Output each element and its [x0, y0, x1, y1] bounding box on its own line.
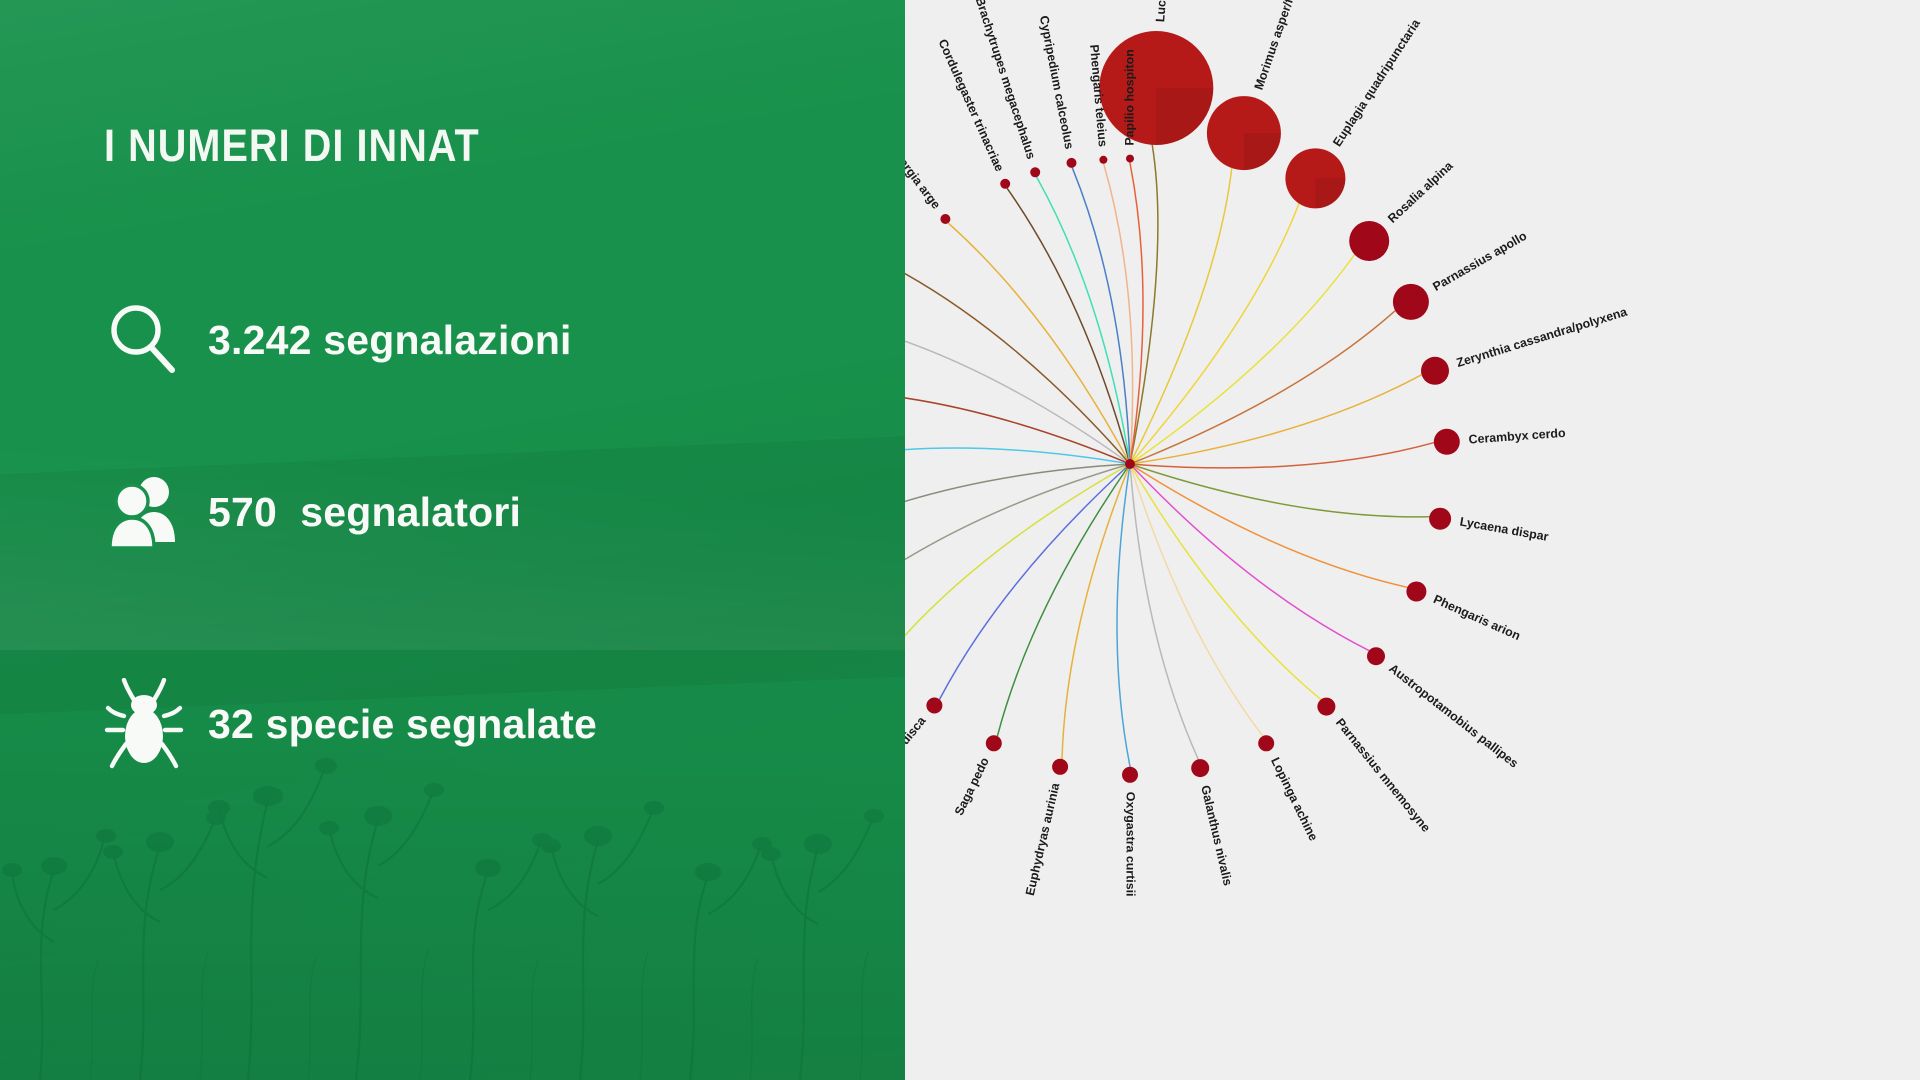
chart-node[interactable] [940, 214, 950, 224]
chart-center-hub[interactable] [1125, 459, 1135, 469]
chart-node[interactable] [1317, 698, 1335, 716]
stat-row-segnalatori: 570 segnalatori [104, 472, 521, 552]
stat-row-specie: 32 specie segnalate [104, 678, 597, 770]
chart-node[interactable] [1258, 735, 1274, 751]
chart-edge [905, 327, 1130, 464]
chart-node-label: Rosalia alpina [1385, 159, 1456, 226]
chart-node-shade [1156, 88, 1213, 145]
chart-node[interactable] [1122, 767, 1138, 783]
search-icon [104, 300, 208, 380]
stats-panel: I NUMERI DI INNAT 3.242 segnalazioni [0, 0, 905, 1080]
chart-node-label: Phengaris arion [1431, 592, 1522, 643]
chart-node-label: Cerambyx cerdo [1468, 426, 1566, 447]
chart-node[interactable] [1367, 647, 1385, 665]
chart-node-label: Euplagia quadripunctaria [1330, 17, 1423, 149]
chart-node-label: Parnassius apollo [1430, 228, 1529, 293]
chart-node[interactable] [1429, 508, 1451, 530]
chart-edge [1037, 178, 1130, 465]
chart-node-label: Lopinga achine [1268, 755, 1320, 843]
chart-edge [905, 270, 1130, 464]
beetle-icon [104, 678, 208, 770]
chart-edge [1130, 169, 1232, 464]
chart-edge [1130, 464, 1407, 587]
chart-node[interactable] [1099, 156, 1107, 164]
chart-node[interactable] [1406, 582, 1426, 602]
page-title: I NUMERI DI INNAT [104, 120, 480, 172]
chart-node[interactable] [1393, 284, 1429, 320]
chart-node-label: Austropotamobius pallipes [1386, 661, 1521, 770]
chart-node[interactable] [986, 735, 1002, 751]
chart-node-label: Lycaena dispar [1459, 514, 1550, 543]
chart-node-label: Papilio hospiton [1122, 49, 1136, 145]
chart-edge [1130, 311, 1395, 464]
chart-edge [1104, 164, 1133, 464]
chart-node[interactable] [1349, 221, 1389, 261]
chart-edge [1130, 443, 1433, 468]
chart-node[interactable] [926, 698, 942, 714]
chart-node[interactable] [1052, 759, 1068, 775]
stat-row-segnalazioni: 3.242 segnalazioni [104, 300, 572, 380]
chart-node[interactable] [1000, 179, 1010, 189]
chart-node-label: Saga pedo [952, 755, 992, 818]
chart-node-label: Zerynthia cassandra/polyxena [1455, 305, 1629, 370]
chart-edge [1130, 464, 1321, 699]
chart-node-label: Oxygastra curtisii [1124, 792, 1138, 897]
chart-node-label: Euphydryas aurinia [1023, 782, 1063, 897]
chart-node[interactable] [1421, 357, 1449, 385]
stat-label-segnalatori: 570 segnalatori [208, 489, 521, 536]
chart-node-label: Sympecma paedisca [905, 714, 929, 818]
chart-node-shade [1244, 133, 1281, 170]
chart-node[interactable] [1191, 759, 1209, 777]
chart-node-label: Melanargia arge [905, 128, 943, 212]
chart-edge [1130, 255, 1354, 464]
chart-node[interactable] [1434, 429, 1460, 455]
people-icon [104, 472, 208, 552]
stat-label-segnalazioni: 3.242 segnalazioni [208, 317, 572, 364]
chart-node[interactable] [1067, 158, 1077, 168]
chart-node-label: Morimus asper/funereus [1252, 0, 1312, 92]
infographic-slide: I NUMERI DI INNAT 3.242 segnalazioni [0, 0, 1920, 1080]
chart-edge [1130, 464, 1369, 650]
chart-edge [1130, 464, 1263, 736]
chart-node-shade [1315, 178, 1345, 208]
chart-edge [1130, 204, 1299, 464]
chart-edge [1062, 464, 1130, 759]
chart-node-label: Lucanus cervus [1153, 0, 1174, 23]
chart-node[interactable] [1030, 167, 1040, 177]
stat-label-specie: 32 specie segnalate [208, 701, 597, 748]
chart-node[interactable] [1126, 155, 1134, 163]
chart-node-label: Galanthus nivalis [1198, 784, 1235, 887]
chart-edge [940, 464, 1130, 699]
chart-node-label: Parnassius mnemosyne [1333, 716, 1433, 835]
chart-node-label: Phengaris teleius [1087, 44, 1110, 148]
species-radial-bubble-chart: Lucanus cervusMorimus asper/funereusEupl… [905, 0, 1920, 1080]
chart-edge [1130, 375, 1421, 464]
chart-node-label: Cypripedium calceolus [1037, 14, 1077, 150]
chart-edge [1117, 464, 1130, 766]
